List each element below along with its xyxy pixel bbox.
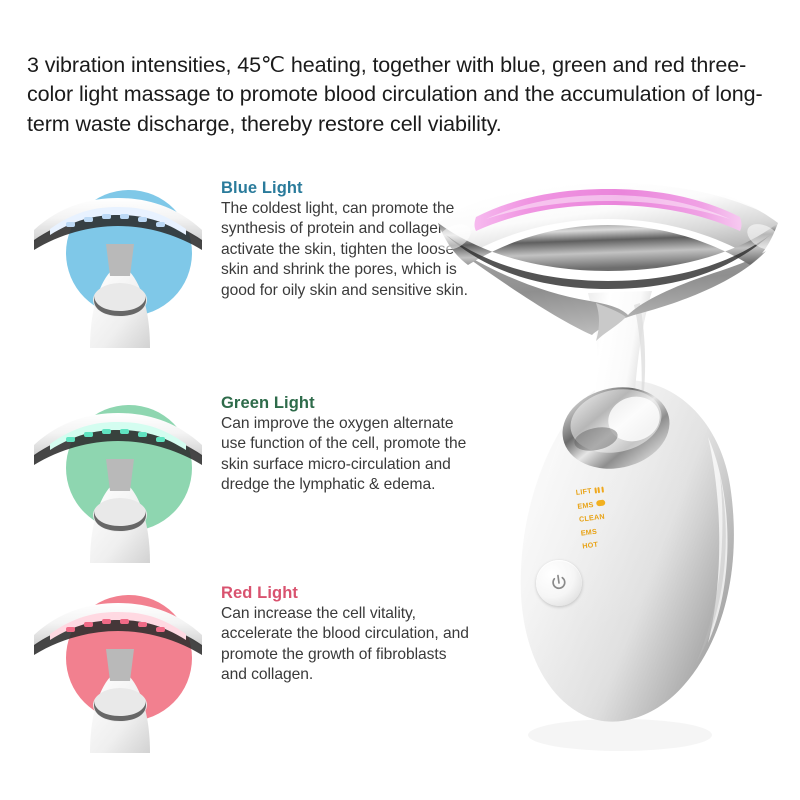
blue-light-device-thumbnail <box>30 182 206 348</box>
indicator-bar <box>594 487 597 493</box>
indicator-pill-ems <box>596 500 606 507</box>
indicator-bar <box>598 487 601 493</box>
indicator-label-hot: HOT <box>582 540 599 551</box>
mini-device-illustration-blue <box>30 182 206 348</box>
indicator-label-ems-1: EMS <box>577 500 594 511</box>
indicator-label-lift: LIFT <box>575 486 592 497</box>
indicator-bars-lift <box>594 486 604 493</box>
page-intro-paragraph: 3 vibration intensities, 45℃ heating, to… <box>27 51 765 140</box>
product-illustration <box>420 175 800 765</box>
mode-indicator-panel: LIFT EMS CLEAN EMS HOT <box>575 476 661 553</box>
indicator-bar <box>601 486 604 492</box>
mini-device-illustration-red <box>30 587 206 753</box>
green-light-device-thumbnail <box>30 397 206 563</box>
power-icon <box>548 572 571 595</box>
main-product-image: LIFT EMS CLEAN EMS HOT <box>420 175 800 765</box>
indicator-label-ems-2: EMS <box>580 526 597 537</box>
indicator-label-clean: CLEAN <box>579 512 606 524</box>
product-feature-page: 3 vibration intensities, 45℃ heating, to… <box>0 0 800 800</box>
mini-device-illustration-green <box>30 397 206 563</box>
red-light-device-thumbnail <box>30 587 206 753</box>
